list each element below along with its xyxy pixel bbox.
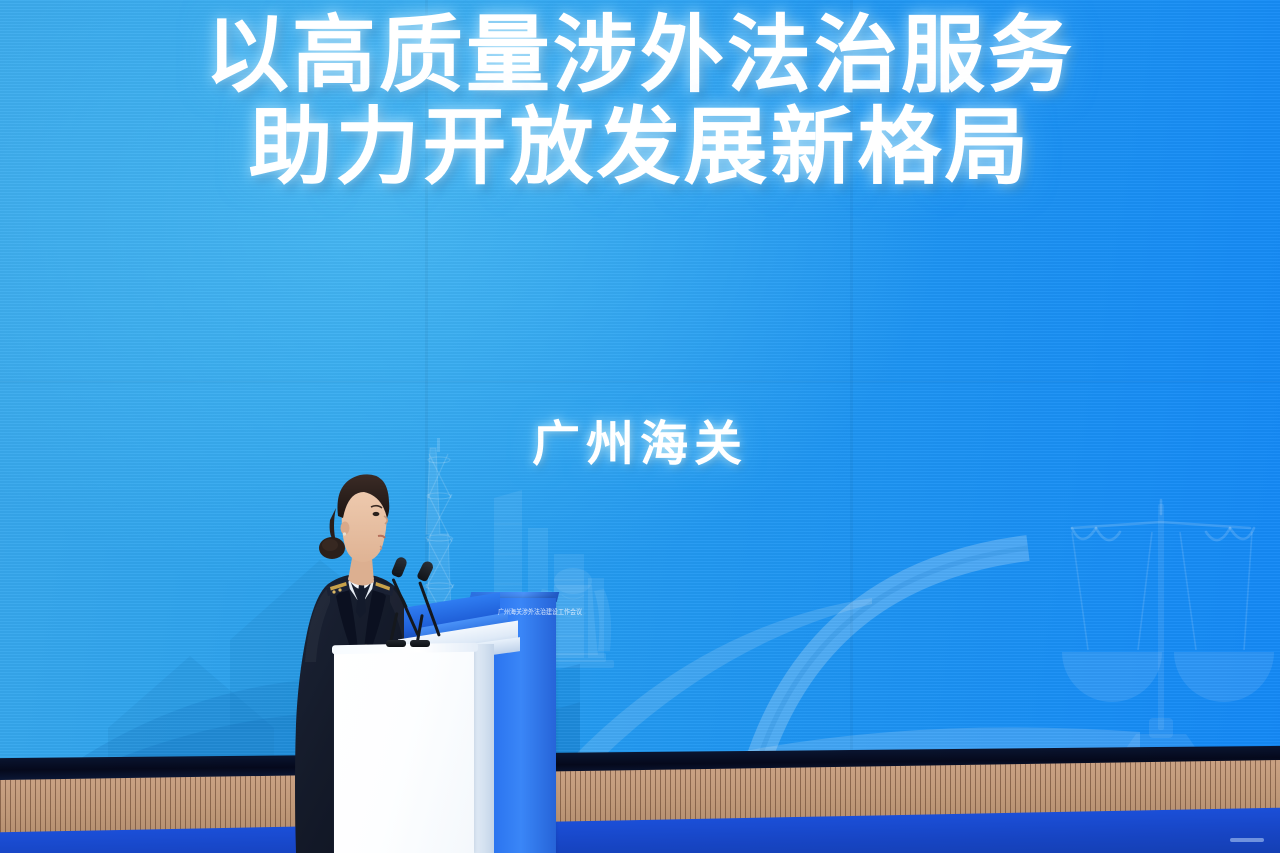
conference-stage-photo: 以高质量涉外法治服务 助力开放发展新格局 广州海关 <box>0 0 1280 853</box>
podium-sign-text: 广州海关涉外法治建设工作会议 <box>498 606 556 621</box>
slide-subtitle: 广州海关 <box>0 404 1280 474</box>
floor-highlight <box>1230 838 1264 842</box>
title-line-1: 以高质量涉外法治服务 <box>0 14 1280 100</box>
podium-front-panel <box>334 648 474 853</box>
title-line-2: 助力开放发展新格局 <box>0 106 1280 192</box>
speaker-head <box>319 474 389 562</box>
slide-title: 以高质量涉外法治服务 助力开放发展新格局 <box>0 14 1280 191</box>
ribbon-streak-silhouette <box>572 598 872 768</box>
subtitle-text: 广州海关 <box>532 418 748 471</box>
